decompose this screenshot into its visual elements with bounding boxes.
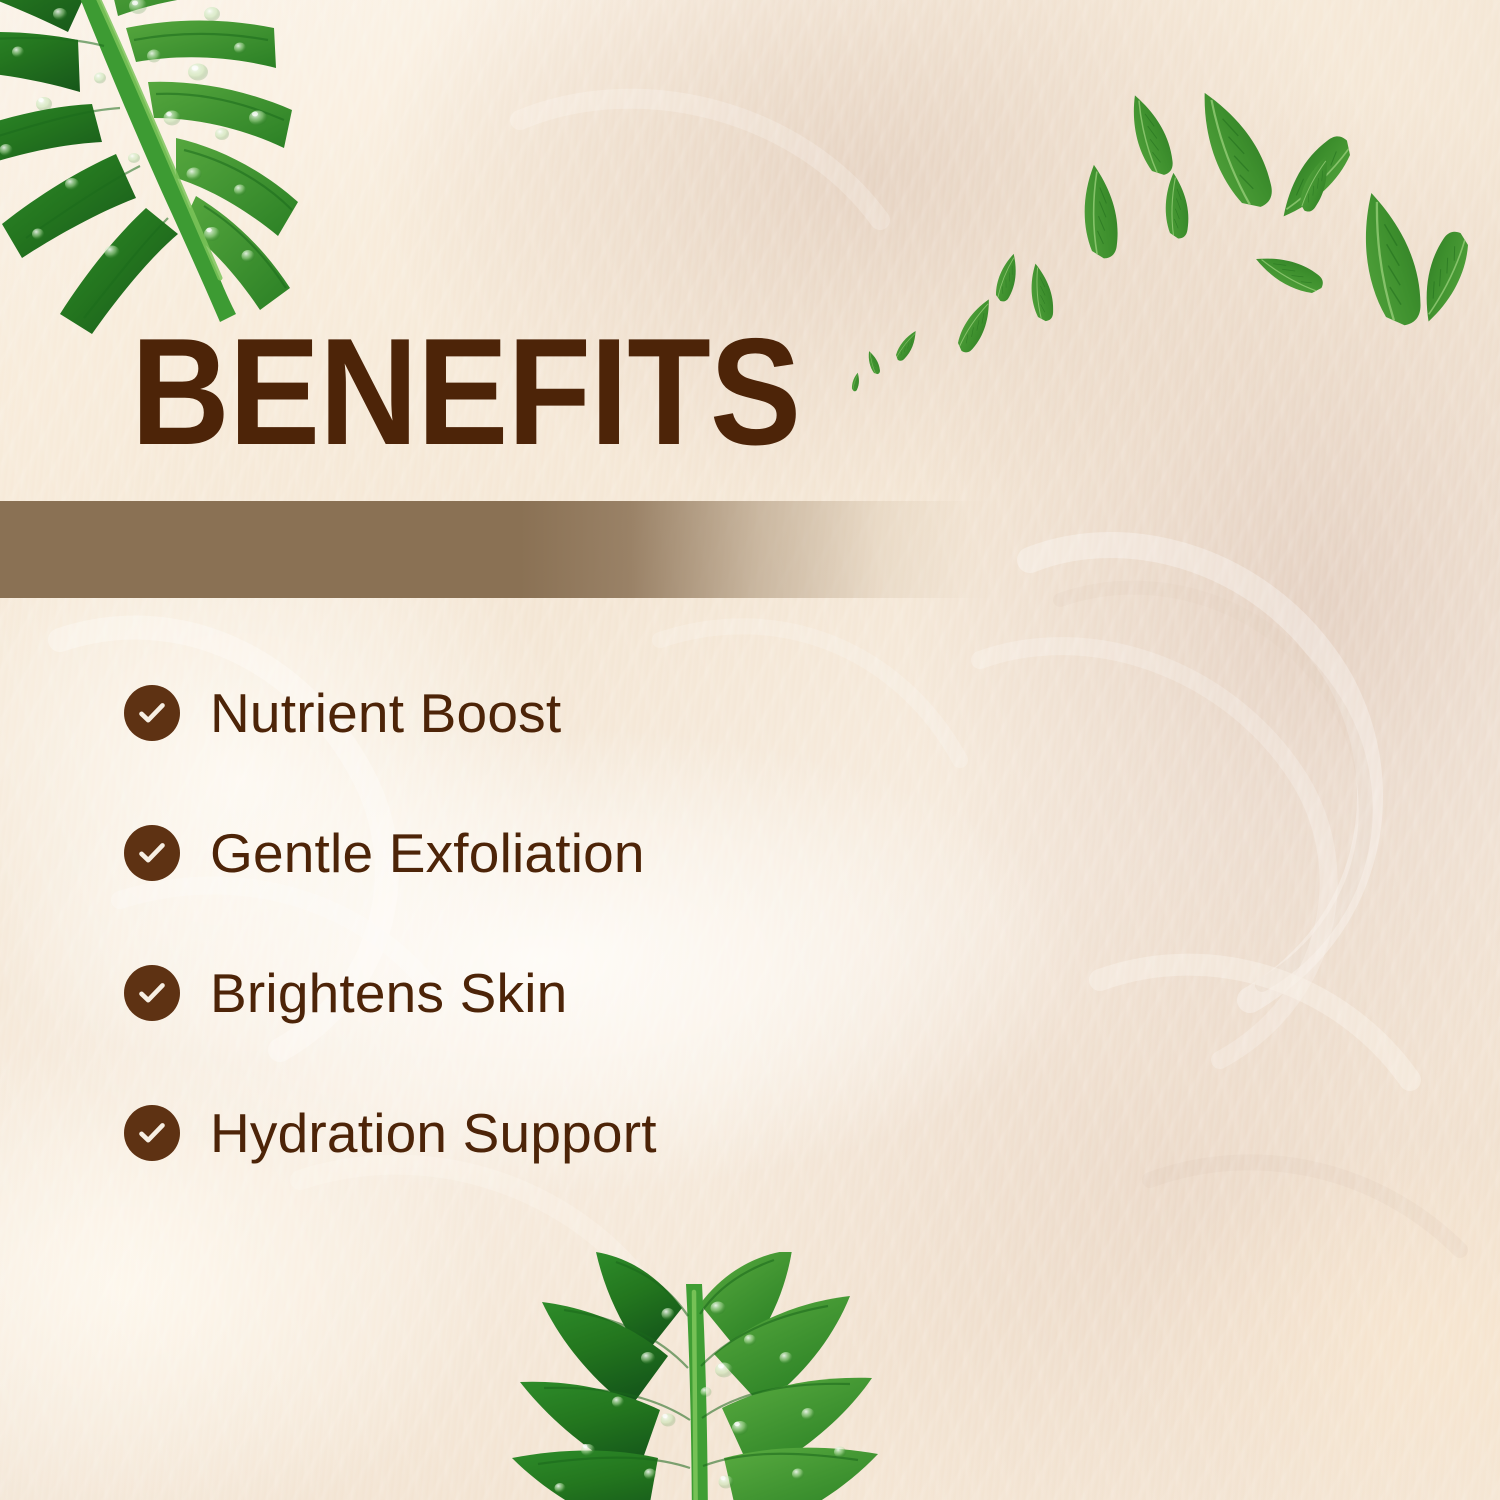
benefit-label: Brightens Skin — [210, 966, 567, 1021]
benefits-graphic-canvas: BENEFITS Nutrient Boost Gentle Exfoliati… — [0, 0, 1500, 1500]
check-circle-icon — [124, 1105, 180, 1161]
content-layer: BENEFITS Nutrient Boost Gentle Exfoliati… — [0, 0, 1500, 1500]
check-circle-icon — [124, 965, 180, 1021]
list-item: Brightens Skin — [124, 954, 1024, 1032]
benefit-label: Hydration Support — [210, 1106, 657, 1161]
list-item: Hydration Support — [124, 1094, 1024, 1172]
benefits-list: Nutrient Boost Gentle Exfoliation Bright… — [124, 674, 1024, 1172]
list-item: Nutrient Boost — [124, 674, 1024, 752]
benefit-label: Gentle Exfoliation — [210, 826, 645, 881]
list-item: Gentle Exfoliation — [124, 814, 1024, 892]
title-underline-bar — [0, 501, 1000, 598]
benefit-label: Nutrient Boost — [210, 686, 561, 741]
check-circle-icon — [124, 825, 180, 881]
check-circle-icon — [124, 685, 180, 741]
page-title: BENEFITS — [131, 316, 800, 468]
